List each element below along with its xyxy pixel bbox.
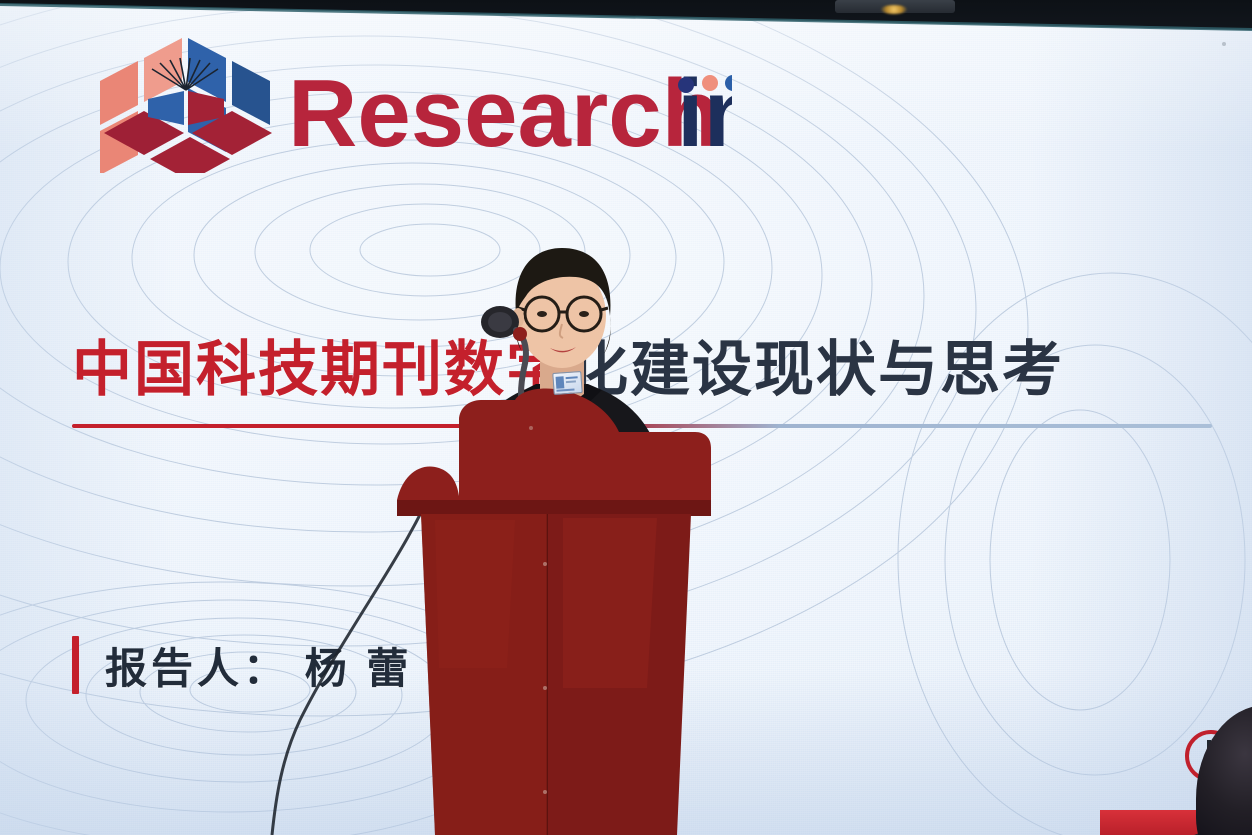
screenshot-stage: Research ing 中国科技期刊数字化建设现状与思考 报告人： 杨 蕾 [0,0,1252,835]
ceiling-light-fixture [835,0,955,13]
logo-dot-salmon [702,75,718,91]
logo-dot-navy [678,77,694,93]
podium [395,388,725,835]
speaker-credit-text: 报告人： 杨 蕾 [105,635,412,696]
researching-brand-logo: Research ing [92,33,732,173]
wordmark-research: Research [288,60,720,167]
ceiling-light-dot [1222,42,1226,46]
speaker-credit: 报告人： 杨 蕾 [72,634,412,696]
conference-id-badge [552,371,582,395]
podium-top [397,388,711,510]
wordmark-ing: ing [677,60,732,167]
mic-mount [513,327,527,341]
speaker-accent-bar [72,636,79,694]
